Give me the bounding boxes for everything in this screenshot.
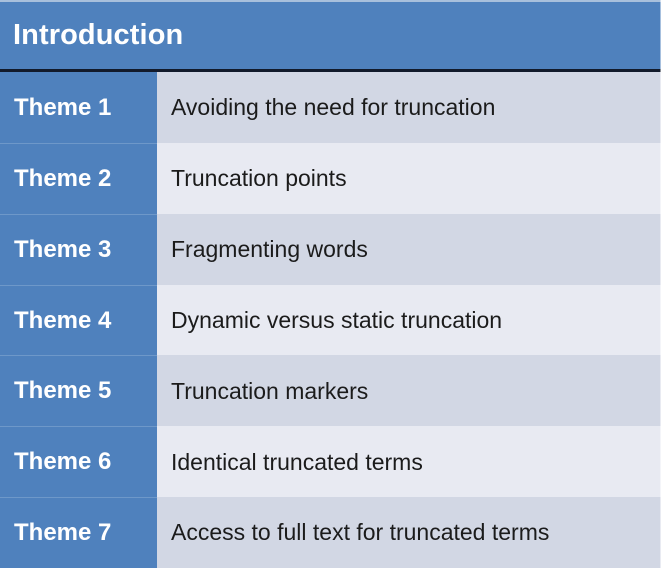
theme-key-label: Theme 4 xyxy=(0,285,157,356)
theme-value-label: Identical truncated terms xyxy=(157,426,661,497)
slide-introduction-themes: Introduction Theme 1 Avoiding the need f… xyxy=(0,0,661,568)
page-title: Introduction xyxy=(0,21,183,50)
theme-key-label: Theme 6 xyxy=(0,426,157,497)
theme-key-label: Theme 5 xyxy=(0,355,157,426)
theme-key-label: Theme 2 xyxy=(0,143,157,214)
table-row: Theme 6 Identical truncated terms xyxy=(0,426,661,497)
slide-header: Introduction xyxy=(0,0,661,69)
table-row: Theme 3 Fragmenting words xyxy=(0,214,661,285)
theme-key-label: Theme 1 xyxy=(0,72,157,143)
table-row: Theme 4 Dynamic versus static truncation xyxy=(0,285,661,356)
theme-value-label: Truncation markers xyxy=(157,355,661,426)
table-row: Theme 7 Access to full text for truncate… xyxy=(0,497,661,568)
theme-key-label: Theme 3 xyxy=(0,214,157,285)
theme-value-label: Dynamic versus static truncation xyxy=(157,285,661,356)
theme-value-label: Access to full text for truncated terms xyxy=(157,497,661,568)
themes-table: Theme 1 Avoiding the need for truncation… xyxy=(0,72,661,568)
theme-value-label: Truncation points xyxy=(157,143,661,214)
theme-value-label: Fragmenting words xyxy=(157,214,661,285)
theme-value-label: Avoiding the need for truncation xyxy=(157,72,661,143)
theme-key-label: Theme 7 xyxy=(0,497,157,568)
table-row: Theme 5 Truncation markers xyxy=(0,355,661,426)
table-row: Theme 1 Avoiding the need for truncation xyxy=(0,72,661,143)
table-row: Theme 2 Truncation points xyxy=(0,143,661,214)
